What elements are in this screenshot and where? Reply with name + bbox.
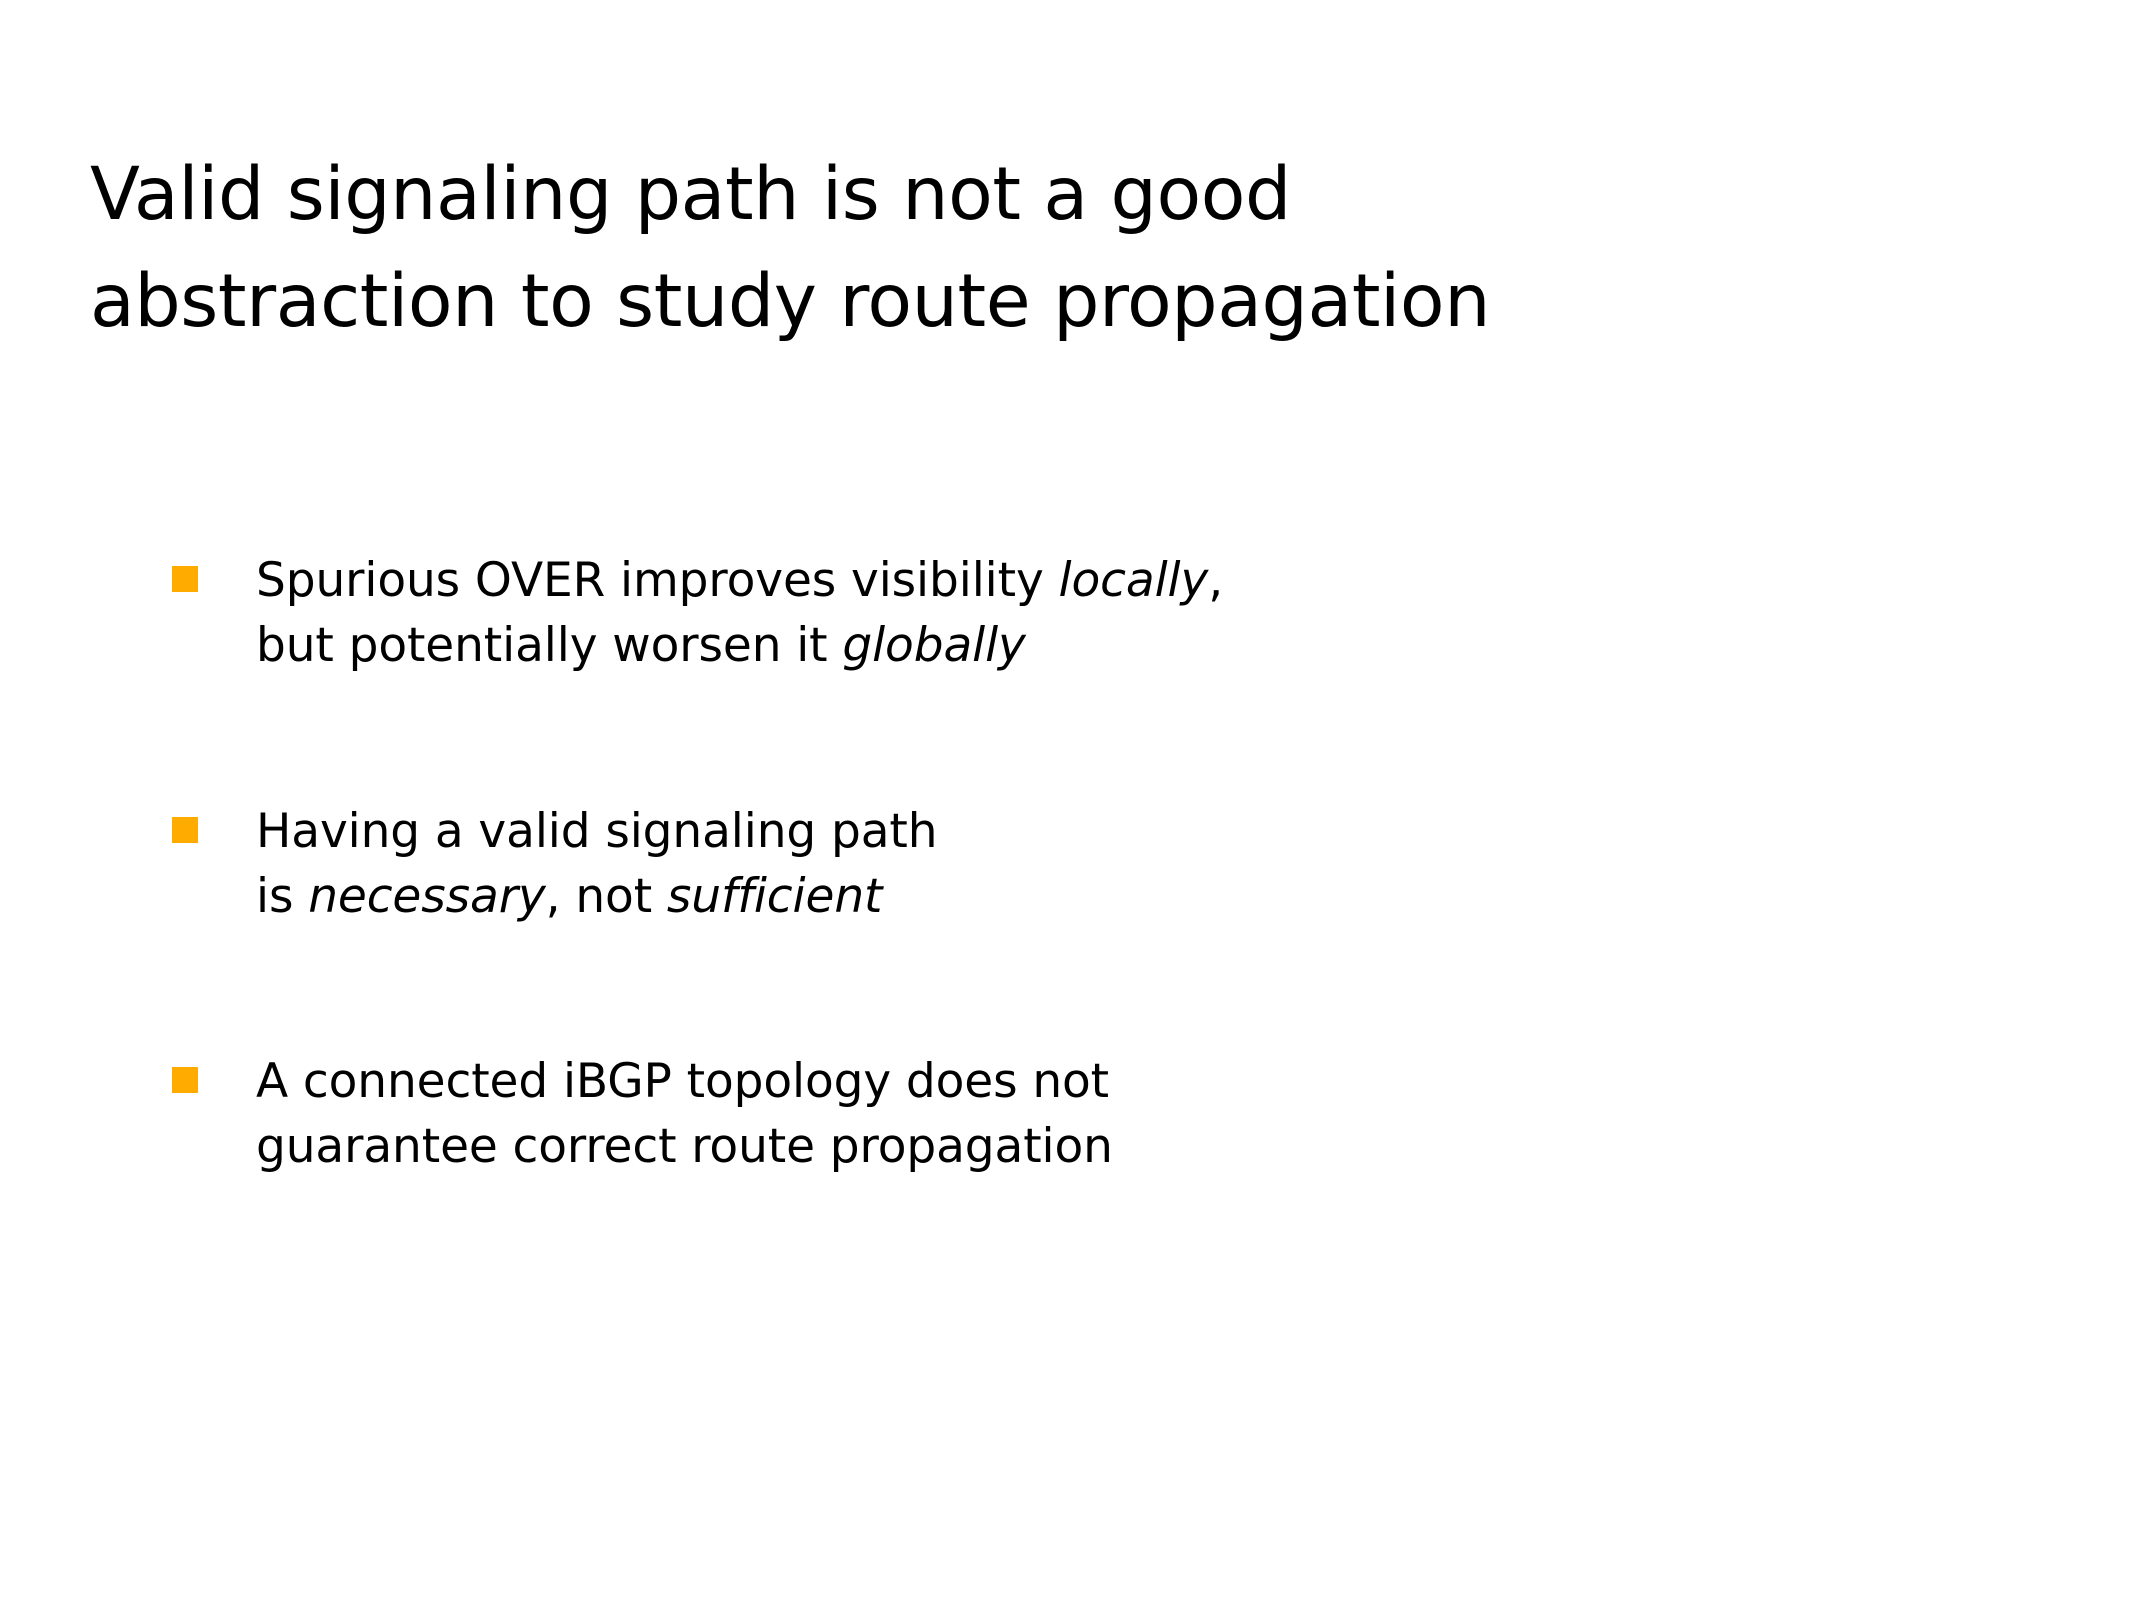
text-run: , (1208, 553, 1223, 608)
bullet-line-1: A connected iBGP topology does not (256, 1049, 1972, 1114)
presentation-slide: Valid signaling path is not a good abstr… (0, 0, 2134, 1600)
text-run: guarantee correct route propagation (256, 1119, 1113, 1174)
emphasized-text: necessary (308, 869, 545, 924)
bullet-item-2-text: Having a valid signaling pathis necessar… (256, 799, 1972, 929)
slide-title: Valid signaling path is not a good abstr… (90, 141, 1990, 355)
bullet-item-1-text: Spurious OVER improves visibility locall… (256, 548, 1972, 678)
text-run: but potentially worsen it (256, 618, 842, 673)
emphasized-text: locally (1059, 553, 1209, 608)
square-bullet-icon (172, 566, 198, 592)
bullet-item-3: A connected iBGP topology does notguaran… (172, 1049, 1972, 1179)
text-run: Having a valid signaling path (256, 804, 937, 859)
text-run: is (256, 869, 308, 924)
emphasized-text: sufficient (667, 869, 882, 924)
text-run: Spurious OVER improves visibility (256, 553, 1059, 608)
bullet-line-1: Having a valid signaling path (256, 799, 1972, 864)
bullet-line-2: but potentially worsen it globally (256, 613, 1972, 678)
bullet-item-1: Spurious OVER improves visibility locall… (172, 548, 1972, 678)
bullet-line-2: guarantee correct route propagation (256, 1114, 1972, 1179)
bullet-item-3-text: A connected iBGP topology does notguaran… (256, 1049, 1972, 1179)
bullet-line-2: is necessary, not sufficient (256, 864, 1972, 929)
text-run: , not (546, 869, 667, 924)
text-run: A connected iBGP topology does not (256, 1054, 1109, 1109)
bullet-line-1: Spurious OVER improves visibility locall… (256, 548, 1972, 613)
emphasized-text: globally (842, 618, 1025, 673)
bullet-item-2: Having a valid signaling pathis necessar… (172, 799, 1972, 929)
square-bullet-icon (172, 817, 198, 843)
square-bullet-icon (172, 1067, 198, 1093)
